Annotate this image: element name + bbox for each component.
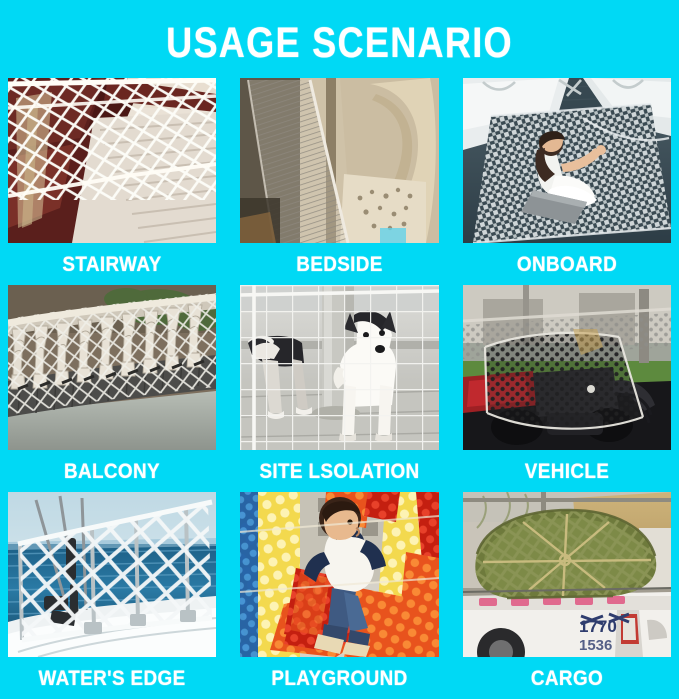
scenario-label: PLAYGROUND (250, 657, 429, 699)
cargo-photo: 1770 1536 (463, 492, 671, 657)
scenario-label: BALCONY (18, 450, 205, 492)
scenario-label: VEHICLE (473, 450, 660, 492)
scenario-cell-cargo[interactable]: 1770 1536 CARGO (463, 492, 671, 699)
scenario-cell-playground[interactable]: PLAYGROUND (240, 492, 439, 699)
stairway-photo (8, 78, 216, 243)
scenario-cell-vehicle[interactable]: VEHICLE (463, 285, 671, 492)
site-isolation-photo (240, 285, 439, 450)
playground-photo (240, 492, 439, 657)
waters-edge-photo (8, 492, 216, 657)
page-title: USAGE SCENARIO (54, 0, 624, 65)
onboard-photo (463, 78, 671, 243)
scenario-cell-stairway[interactable]: STAIRWAY (8, 78, 216, 285)
scenario-grid: STAIRWAY (8, 78, 671, 699)
scenario-cell-bedside[interactable]: BEDSIDE (240, 78, 439, 285)
scenario-cell-site-isolation[interactable]: SITE LSOLATION (240, 285, 439, 492)
scenario-row: BALCONY (8, 285, 671, 492)
bedside-photo (240, 78, 439, 243)
scenario-row: WATER'S EDGE (8, 492, 671, 699)
scenario-label: CARGO (473, 657, 660, 699)
balcony-photo (8, 285, 216, 450)
scenario-label: BEDSIDE (250, 243, 429, 285)
scenario-label: STAIRWAY (18, 243, 205, 285)
scenario-label: SITE LSOLATION (250, 450, 429, 492)
vehicle-photo (463, 285, 671, 450)
scenario-cell-waters-edge[interactable]: WATER'S EDGE (8, 492, 216, 699)
scenario-cell-balcony[interactable]: BALCONY (8, 285, 216, 492)
scenario-row: STAIRWAY (8, 78, 671, 285)
scenario-label: WATER'S EDGE (18, 657, 205, 699)
svg-text:1536: 1536 (579, 637, 612, 654)
scenario-cell-onboard[interactable]: ONBOARD (463, 78, 671, 285)
scenario-label: ONBOARD (473, 243, 660, 285)
usage-scenario-page: USAGE SCENARIO (0, 0, 679, 679)
